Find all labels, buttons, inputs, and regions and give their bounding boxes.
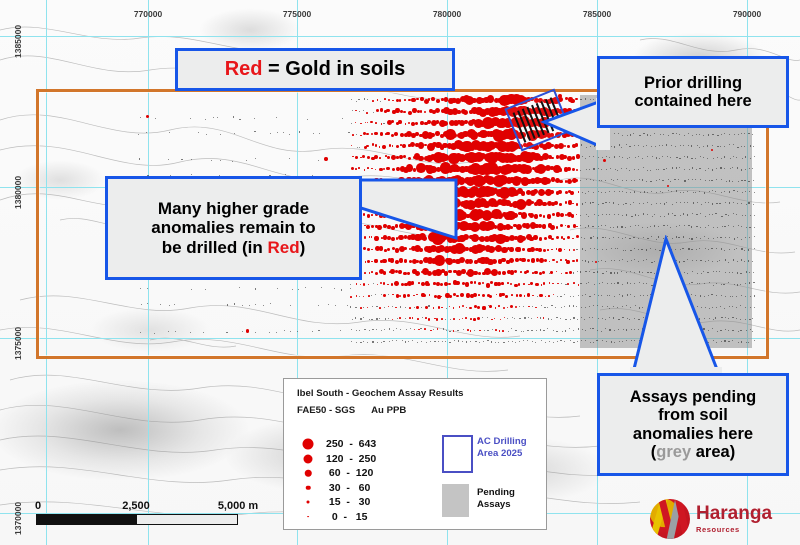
soil-sample-point (617, 282, 618, 283)
soil-anomaly-point (521, 191, 526, 196)
soil-sample-point (740, 330, 741, 331)
soil-sample-point (233, 116, 234, 117)
soil-sample-point (371, 319, 372, 320)
soil-sample-point (700, 227, 701, 228)
soil-anomaly-point (551, 249, 553, 251)
soil-sample-point (592, 261, 593, 262)
soil-sample-point (638, 169, 639, 170)
soil-sample-point (585, 250, 586, 251)
soil-anomaly-point (561, 273, 563, 275)
soil-sample-point (617, 179, 618, 180)
soil-anomaly-point (501, 258, 505, 262)
soil-sample-point (580, 170, 581, 171)
soil-anomaly-point (533, 235, 537, 239)
legend-class-symbol (303, 439, 314, 450)
soil-sample-point (642, 179, 643, 180)
soil-sample-point (638, 225, 639, 226)
soil-anomaly-point (386, 167, 389, 170)
logo-tagline: Resources (696, 525, 772, 534)
soil-sample-point (619, 144, 620, 145)
soil-sample-point (614, 296, 615, 297)
soil-sample-point (617, 272, 618, 273)
soil-sample-point (748, 249, 749, 250)
soil-anomaly-point (418, 156, 424, 162)
soil-anomaly-point (433, 307, 435, 309)
soil-sample-point (312, 331, 313, 332)
soil-sample-point (576, 306, 577, 307)
soil-sample-point (270, 303, 271, 304)
soil-sample-point (381, 294, 382, 295)
soil-anomaly-point (462, 305, 464, 307)
soil-anomaly-point (479, 330, 481, 332)
soil-anomaly-point (478, 282, 481, 285)
soil-anomaly-point (559, 203, 562, 206)
scalebar-tick-1: 2,500 (122, 500, 150, 512)
soil-sample-point (614, 260, 615, 261)
soil-sample-point (139, 158, 140, 159)
soil-sample-point (154, 333, 155, 334)
soil-sample-point (594, 294, 595, 295)
soil-sample-point (515, 342, 516, 343)
soil-sample-point (607, 295, 608, 296)
soil-anomaly-point (371, 133, 373, 135)
soil-sample-point (672, 204, 673, 205)
soil-sample-point (707, 145, 708, 146)
soil-sample-point (376, 318, 377, 319)
soil-sample-point (255, 158, 256, 159)
soil-sample-point (741, 341, 742, 342)
soil-anomaly-point (482, 282, 484, 284)
soil-sample-point (541, 305, 542, 306)
soil-anomaly-point (711, 149, 713, 151)
soil-sample-point (748, 133, 749, 134)
soil-anomaly-point (524, 295, 526, 297)
soil-anomaly-point (576, 154, 581, 159)
soil-sample-point (360, 318, 361, 319)
soil-sample-point (684, 156, 685, 157)
soil-sample-point (691, 226, 692, 227)
soil-anomaly-point (360, 123, 362, 125)
soil-sample-point (297, 331, 298, 332)
soil-sample-point (634, 191, 635, 192)
soil-sample-point (630, 226, 631, 227)
legend-class-label: 120 - 250 (326, 453, 376, 465)
soil-sample-point (605, 261, 606, 262)
soil-sample-point (639, 203, 640, 204)
soil-sample-point (693, 202, 694, 203)
soil-sample-point (277, 132, 278, 133)
soil-sample-point (684, 225, 685, 226)
soil-anomaly-point (355, 122, 357, 124)
soil-sample-point (717, 135, 718, 136)
soil-sample-point (666, 202, 667, 203)
callout-prior-line1: Prior drilling (634, 74, 751, 92)
soil-anomaly-point (501, 282, 504, 285)
soil-sample-point (683, 145, 684, 146)
soil-sample-point (146, 132, 147, 133)
soil-sample-point (630, 134, 631, 135)
soil-anomaly-point (363, 296, 365, 298)
soil-anomaly-point (365, 122, 367, 124)
soil-sample-point (740, 273, 741, 274)
soil-sample-point (564, 306, 565, 307)
soil-sample-point (570, 319, 571, 320)
soil-anomaly-point (571, 214, 575, 218)
soil-sample-point (570, 296, 571, 297)
soil-anomaly-point (531, 258, 536, 263)
soil-sample-point (492, 329, 493, 330)
scalebar-tick-2: 5,000 m (218, 500, 258, 512)
soil-sample-point (626, 168, 627, 169)
soil-sample-point (717, 157, 718, 158)
soil-anomaly-point (389, 144, 392, 147)
soil-sample-point (724, 168, 725, 169)
soil-anomaly-point (399, 317, 401, 319)
soil-anomaly-point (578, 191, 580, 193)
soil-anomaly-point (551, 157, 554, 160)
soil-sample-point (737, 167, 738, 168)
legend-class-label: 15 - 30 (326, 496, 370, 508)
soil-sample-point (369, 330, 370, 331)
soil-sample-point (592, 202, 593, 203)
soil-sample-point (701, 204, 702, 205)
soil-sample-point (305, 287, 306, 288)
soil-sample-point (609, 295, 610, 296)
soil-anomaly-point (489, 295, 492, 298)
soil-anomaly-point (394, 132, 399, 137)
soil-sample-point (754, 248, 755, 249)
soil-anomaly-point (408, 157, 411, 160)
soil-sample-point (414, 307, 415, 308)
soil-anomaly-point (576, 235, 579, 238)
soil-sample-point (709, 191, 710, 192)
soil-sample-point (662, 145, 663, 146)
soil-sample-point (420, 328, 421, 329)
soil-sample-point (753, 146, 754, 147)
soil-anomaly-point (368, 295, 370, 297)
soil-sample-point (442, 341, 443, 342)
legend-label-ac-drilling: AC Drilling Area 2025 (477, 436, 527, 460)
soil-anomaly-point (425, 317, 427, 319)
soil-sample-point (588, 225, 589, 226)
soil-sample-point (613, 317, 614, 318)
soil-sample-point (598, 295, 599, 296)
soil-sample-point (609, 214, 610, 215)
soil-sample-point (356, 342, 357, 343)
soil-sample-point (664, 216, 665, 217)
soil-sample-point (674, 215, 675, 216)
soil-sample-point (684, 135, 685, 136)
soil-sample-point (699, 147, 700, 148)
soil-sample-point (606, 169, 607, 170)
soil-anomaly-point (556, 261, 558, 263)
soil-anomaly-point (473, 318, 476, 321)
soil-sample-point (602, 318, 603, 319)
soil-anomaly-point (351, 145, 353, 147)
soil-sample-point (373, 112, 374, 113)
legend-pending-line2: Assays (477, 499, 515, 511)
soil-anomaly-point (366, 112, 368, 114)
soil-anomaly-point (408, 99, 410, 101)
soil-sample-point (334, 288, 335, 289)
soil-sample-point (729, 180, 730, 181)
soil-anomaly-point (411, 281, 415, 285)
soil-sample-point (475, 341, 476, 342)
soil-anomaly-point (578, 284, 580, 286)
soil-sample-point (588, 216, 589, 217)
soil-sample-point (585, 193, 586, 194)
soil-anomaly-point (382, 259, 387, 264)
legend-class-row: 250 - 643 (298, 437, 428, 451)
soil-anomaly-point (527, 259, 531, 263)
soil-sample-point (351, 329, 352, 330)
soil-anomaly-point (392, 168, 396, 172)
soil-sample-point (445, 341, 446, 342)
soil-sample-point (601, 180, 602, 181)
soil-anomaly-point (356, 283, 358, 285)
soil-sample-point (601, 295, 602, 296)
soil-anomaly-point (459, 319, 461, 321)
soil-sample-point (679, 158, 680, 159)
soil-anomaly-point (408, 122, 410, 124)
soil-sample-point (732, 272, 733, 273)
soil-sample-point (720, 167, 721, 168)
soil-anomaly-point (504, 317, 506, 319)
soil-sample-point (642, 158, 643, 159)
soil-sample-point (650, 170, 651, 171)
soil-anomaly-point (557, 283, 559, 285)
soil-sample-point (684, 180, 685, 181)
soil-sample-point (597, 237, 598, 238)
soil-sample-point (140, 288, 141, 289)
soil-sample-point (741, 180, 742, 181)
soil-sample-point (514, 318, 515, 319)
soil-sample-point (631, 180, 632, 181)
soil-sample-point (392, 340, 393, 341)
callout-many-anomalies: Many higher grade anomalies remain to be… (105, 176, 362, 280)
callout-red-word: Red (225, 58, 263, 80)
soil-sample-point (705, 216, 706, 217)
soil-anomaly-point (428, 98, 430, 100)
soil-sample-point (617, 248, 618, 249)
soil-sample-point (198, 132, 199, 133)
soil-sample-point (684, 202, 685, 203)
soil-sample-point (643, 213, 644, 214)
callout-prior-drilling: Prior drilling contained here (597, 56, 789, 128)
soil-sample-point (523, 306, 524, 307)
soil-sample-point (746, 342, 747, 343)
soil-sample-point (372, 306, 373, 307)
soil-sample-point (396, 328, 397, 329)
soil-sample-point (597, 271, 598, 272)
soil-sample-point (190, 332, 191, 333)
soil-sample-point (389, 328, 390, 329)
soil-sample-point (651, 146, 652, 147)
soil-sample-point (744, 180, 745, 181)
soil-sample-point (675, 146, 676, 147)
soil-sample-point (589, 306, 590, 307)
soil-sample-point (598, 318, 599, 319)
soil-sample-point (527, 330, 528, 331)
soil-sample-point (548, 318, 549, 319)
soil-sample-point (659, 158, 660, 159)
soil-sample-point (699, 168, 700, 169)
soil-anomaly-point (392, 100, 394, 102)
soil-sample-point (606, 156, 607, 157)
soil-anomaly-point (366, 133, 369, 136)
legend-subtitle-method: FAE50 - SGS (297, 405, 355, 416)
soil-sample-point (242, 305, 243, 306)
soil-sample-point (753, 272, 754, 273)
soil-sample-point (634, 169, 635, 170)
soil-anomaly-point (399, 99, 402, 102)
soil-sample-point (586, 179, 587, 180)
soil-sample-point (738, 342, 739, 343)
soil-sample-point (363, 110, 364, 111)
soil-anomaly-point (441, 307, 443, 309)
soil-sample-point (708, 202, 709, 203)
soil-sample-point (307, 119, 308, 120)
soil-sample-point (627, 158, 628, 159)
soil-anomaly-point (448, 283, 450, 285)
soil-anomaly-point (498, 271, 502, 275)
soil-sample-point (588, 261, 589, 262)
soil-anomaly-point (417, 318, 419, 320)
soil-sample-point (470, 341, 471, 342)
legend-class-symbol (306, 485, 311, 490)
soil-sample-point (590, 342, 591, 343)
soil-sample-point (729, 144, 730, 145)
soil-anomaly-point (455, 281, 459, 285)
soil-sample-point (696, 169, 697, 170)
soil-sample-point (610, 272, 611, 273)
soil-sample-point (672, 213, 673, 214)
soil-sample-point (676, 133, 677, 134)
soil-sample-point (754, 236, 755, 237)
soil-sample-point (647, 202, 648, 203)
soil-sample-point (443, 328, 444, 329)
soil-anomaly-point (469, 307, 472, 310)
soil-sample-point (141, 304, 142, 305)
soil-sample-point (536, 330, 537, 331)
soil-anomaly-point (553, 294, 555, 296)
soil-anomaly-point (545, 296, 547, 298)
soil-anomaly-point (375, 144, 378, 147)
soil-anomaly-point (409, 307, 411, 309)
soil-sample-point (573, 317, 574, 318)
soil-sample-point (717, 227, 718, 228)
soil-anomaly-point (560, 213, 564, 217)
soil-sample-point (744, 250, 745, 251)
soil-sample-point (613, 202, 614, 203)
soil-sample-point (581, 307, 582, 308)
soil-sample-point (688, 179, 689, 180)
soil-sample-point (754, 192, 755, 193)
soil-sample-point (733, 190, 734, 191)
soil-anomaly-point (416, 98, 418, 100)
soil-anomaly-point (362, 155, 365, 158)
soil-anomaly-point (246, 329, 249, 332)
soil-anomaly-point (516, 224, 522, 230)
soil-sample-point (594, 214, 595, 215)
soil-sample-point (519, 341, 520, 342)
soil-sample-point (737, 284, 738, 285)
soil-sample-point (543, 330, 544, 331)
soil-anomaly-point (381, 123, 383, 125)
soil-sample-point (545, 342, 546, 343)
soil-sample-point (713, 227, 714, 228)
soil-sample-point (601, 192, 602, 193)
soil-sample-point (138, 134, 139, 135)
soil-anomaly-point (415, 271, 420, 276)
soil-anomaly-point (375, 169, 377, 171)
soil-sample-point (359, 296, 360, 297)
soil-sample-point (630, 204, 631, 205)
soil-sample-point (712, 169, 713, 170)
soil-sample-point (719, 203, 720, 204)
soil-sample-point (749, 191, 750, 192)
soil-anomaly-point (375, 122, 377, 124)
soil-anomaly-point (380, 132, 383, 135)
soil-sample-point (561, 307, 562, 308)
soil-anomaly-point (491, 269, 498, 276)
soil-sample-point (738, 134, 739, 135)
soil-anomaly-point (573, 249, 576, 252)
soil-sample-point (656, 203, 657, 204)
soil-sample-point (249, 305, 250, 306)
soil-sample-point (738, 331, 739, 332)
soil-sample-point (155, 118, 156, 119)
soil-anomaly-point (377, 284, 379, 286)
soil-sample-point (482, 317, 483, 318)
soil-anomaly-point (498, 305, 500, 307)
soil-anomaly-point (551, 238, 554, 241)
soil-anomaly-point (419, 248, 423, 252)
soil-sample-point (688, 133, 689, 134)
soil-sample-point (239, 119, 240, 120)
legend-class-label: 0 - 15 (326, 511, 367, 523)
soil-sample-point (748, 342, 749, 343)
soil-anomaly-point (519, 294, 522, 297)
soil-anomaly-point (367, 248, 370, 251)
soil-sample-point (512, 341, 513, 342)
soil-sample-point (596, 340, 597, 341)
soil-sample-point (269, 332, 270, 333)
soil-sample-point (634, 180, 635, 181)
soil-sample-point (721, 134, 722, 135)
soil-sample-point (626, 180, 627, 181)
soil-sample-point (724, 146, 725, 147)
soil-sample-point (674, 179, 675, 180)
soil-sample-point (621, 168, 622, 169)
soil-sample-point (356, 101, 357, 102)
soil-sample-point (191, 159, 192, 160)
soil-anomaly-point (395, 307, 397, 309)
soil-sample-point (598, 157, 599, 158)
soil-sample-point (712, 134, 713, 135)
soil-sample-point (676, 167, 677, 168)
soil-sample-point (752, 318, 753, 319)
soil-anomaly-point (499, 330, 501, 332)
soil-sample-point (654, 133, 655, 134)
soil-sample-point (289, 134, 290, 135)
soil-anomaly-point (388, 306, 390, 308)
soil-sample-point (356, 134, 357, 135)
soil-sample-point (613, 227, 614, 228)
soil-sample-point (729, 202, 730, 203)
soil-anomaly-point (470, 318, 472, 320)
soil-sample-point (708, 225, 709, 226)
